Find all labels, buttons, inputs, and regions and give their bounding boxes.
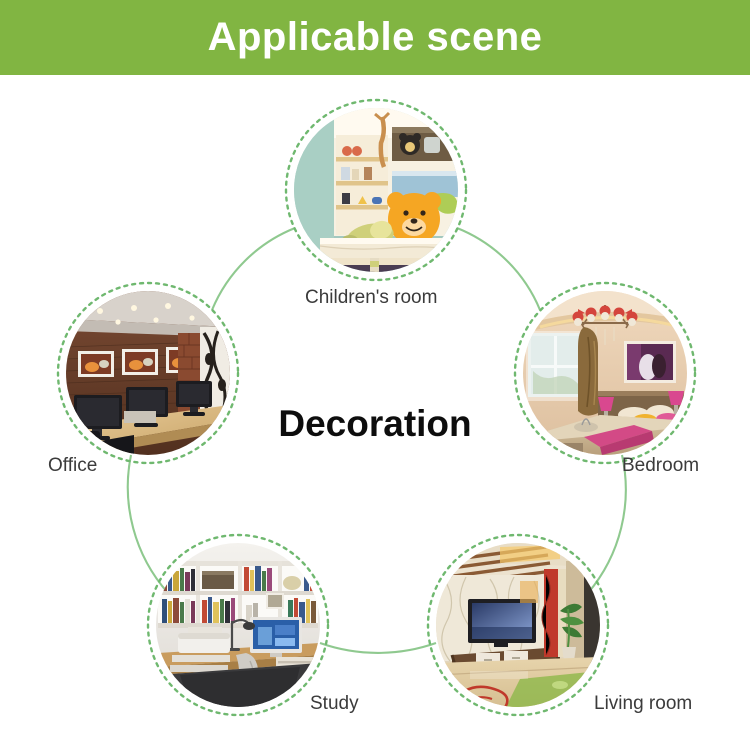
children-room-photo bbox=[294, 108, 462, 275]
scene-diagram: Decoration Children's room Office Bedroo… bbox=[0, 75, 750, 750]
node-label-living-room: Living room bbox=[594, 693, 692, 715]
applicable-scene-infographic: Applicable scene bbox=[0, 0, 750, 750]
bedroom-photo bbox=[523, 291, 690, 457]
study-photo bbox=[156, 543, 320, 707]
node-living-room[interactable] bbox=[428, 535, 608, 715]
node-bedroom[interactable] bbox=[515, 283, 695, 463]
diagram-canvas bbox=[0, 75, 750, 750]
connector-office-study bbox=[128, 455, 168, 593]
header-banner: Applicable scene bbox=[0, 0, 750, 75]
node-label-office: Office bbox=[48, 455, 97, 477]
connector-children-office bbox=[212, 228, 295, 310]
connector-bedroom-living bbox=[588, 455, 626, 593]
node-children-room[interactable] bbox=[286, 100, 466, 280]
node-study[interactable] bbox=[148, 535, 328, 715]
connector-study-living bbox=[320, 643, 436, 653]
node-label-children-room: Children's room bbox=[305, 287, 437, 309]
node-label-study: Study bbox=[310, 693, 359, 715]
office-photo bbox=[66, 291, 230, 459]
node-office[interactable] bbox=[58, 283, 238, 463]
living-room-photo bbox=[436, 543, 600, 709]
connector-children-bedroom bbox=[457, 228, 540, 310]
node-label-bedroom: Bedroom bbox=[622, 455, 699, 477]
page-title: Applicable scene bbox=[208, 15, 543, 60]
